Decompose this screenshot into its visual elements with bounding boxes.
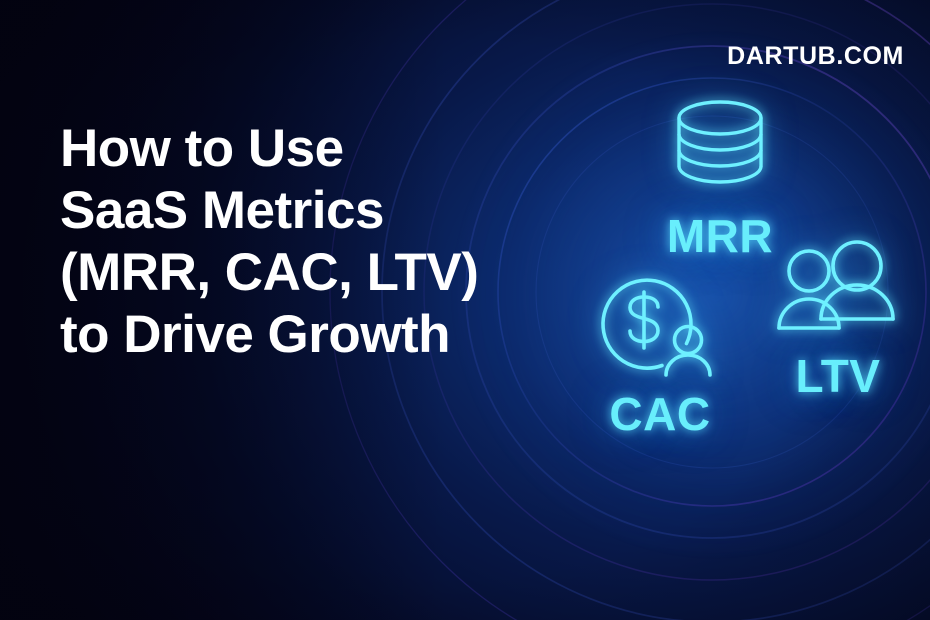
page-title: How to Use SaaS Metrics (MRR, CAC, LTV) …	[60, 118, 530, 366]
title-line-3: (MRR, CAC, LTV)	[60, 242, 530, 304]
database-cylinder-icon	[620, 96, 820, 201]
metric-cac-label: CAC	[560, 391, 760, 437]
two-people-icon	[738, 240, 930, 349]
metric-ltv: LTV	[738, 240, 930, 399]
metrics-cluster: MRR CAC	[520, 60, 930, 480]
title-line-1: How to Use	[60, 118, 530, 180]
title-line-4: to Drive Growth	[60, 304, 530, 366]
banner-canvas: DARTUB.COM How to Use SaaS Metrics (MRR,…	[0, 0, 930, 620]
title-line-2: SaaS Metrics	[60, 180, 530, 242]
metric-ltv-label: LTV	[738, 353, 930, 399]
metric-mrr: MRR	[620, 96, 820, 259]
metric-cac: CAC	[560, 270, 760, 437]
dollar-circle-person-icon	[560, 270, 760, 385]
